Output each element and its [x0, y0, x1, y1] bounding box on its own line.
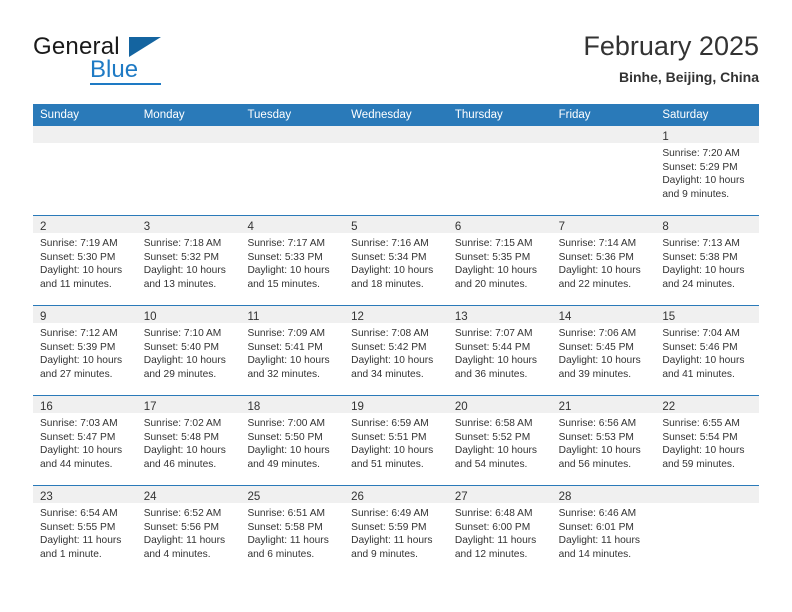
sunset-text: Sunset: 5:44 PM [455, 341, 546, 355]
calendar-day-cell[interactable]: 28Sunrise: 6:46 AMSunset: 6:01 PMDayligh… [552, 486, 656, 575]
daylight-text-line1: Daylight: 10 hours [559, 264, 650, 278]
sunset-text: Sunset: 5:41 PM [247, 341, 338, 355]
daylight-text-line2: and 18 minutes. [351, 278, 442, 292]
daylight-text-line2: and 11 minutes. [40, 278, 131, 292]
calendar-day-cell[interactable]: 22Sunrise: 6:55 AMSunset: 5:54 PMDayligh… [655, 396, 759, 485]
day-sun-info: Sunrise: 7:15 AMSunset: 5:35 PMDaylight:… [448, 233, 552, 291]
day-sun-info: Sunrise: 7:17 AMSunset: 5:33 PMDaylight:… [240, 233, 344, 291]
day-number: 22 [662, 401, 675, 413]
day-number: 2 [40, 221, 46, 233]
page-header: General Blue February 2025 Binhe, Beijin… [33, 30, 759, 98]
daylight-text-line2: and 41 minutes. [662, 368, 753, 382]
daylight-text-line2: and 6 minutes. [247, 548, 338, 562]
sunrise-text: Sunrise: 7:02 AM [144, 417, 235, 431]
daylight-text-line2: and 36 minutes. [455, 368, 546, 382]
logo-triangle-icon [129, 37, 161, 57]
day-number-band: 17 [137, 396, 241, 413]
calendar-day-cell[interactable]: 2Sunrise: 7:19 AMSunset: 5:30 PMDaylight… [33, 216, 137, 305]
day-sun-info: Sunrise: 6:55 AMSunset: 5:54 PMDaylight:… [655, 413, 759, 471]
day-number: 5 [351, 221, 357, 233]
sunrise-text: Sunrise: 7:16 AM [351, 237, 442, 251]
weekday-header-monday: Monday [137, 104, 241, 126]
sunrise-text: Sunrise: 6:59 AM [351, 417, 442, 431]
calendar-week-row: 9Sunrise: 7:12 AMSunset: 5:39 PMDaylight… [33, 305, 759, 395]
sunrise-text: Sunrise: 7:19 AM [40, 237, 131, 251]
sunset-text: Sunset: 5:53 PM [559, 431, 650, 445]
daylight-text-line1: Daylight: 10 hours [662, 444, 753, 458]
daylight-text-line2: and 22 minutes. [559, 278, 650, 292]
day-number: 8 [662, 221, 668, 233]
day-number-band: 19 [344, 396, 448, 413]
day-number-band: 15 [655, 306, 759, 323]
sunset-text: Sunset: 5:59 PM [351, 521, 442, 535]
day-number-band: 28 [552, 486, 656, 503]
day-number-band: 23 [33, 486, 137, 503]
calendar-day-cell-empty [240, 126, 344, 215]
day-sun-info: Sunrise: 7:12 AMSunset: 5:39 PMDaylight:… [33, 323, 137, 381]
sunrise-text: Sunrise: 7:09 AM [247, 327, 338, 341]
daylight-text-line2: and 13 minutes. [144, 278, 235, 292]
sunrise-text: Sunrise: 6:49 AM [351, 507, 442, 521]
calendar-day-cell-empty [137, 126, 241, 215]
day-number-band: 13 [448, 306, 552, 323]
day-sun-info: Sunrise: 7:07 AMSunset: 5:44 PMDaylight:… [448, 323, 552, 381]
weekday-header-sunday: Sunday [33, 104, 137, 126]
calendar-day-cell[interactable]: 15Sunrise: 7:04 AMSunset: 5:46 PMDayligh… [655, 306, 759, 395]
sunrise-text: Sunrise: 7:08 AM [351, 327, 442, 341]
daylight-text-line2: and 4 minutes. [144, 548, 235, 562]
sunrise-text: Sunrise: 6:55 AM [662, 417, 753, 431]
day-sun-info: Sunrise: 6:46 AMSunset: 6:01 PMDaylight:… [552, 503, 656, 561]
day-number-band: 7 [552, 216, 656, 233]
daylight-text-line2: and 14 minutes. [559, 548, 650, 562]
sunset-text: Sunset: 6:00 PM [455, 521, 546, 535]
day-number-band: 27 [448, 486, 552, 503]
day-number-band: 14 [552, 306, 656, 323]
daylight-text-line2: and 46 minutes. [144, 458, 235, 472]
day-number: 27 [455, 491, 468, 503]
calendar-week-row: 23Sunrise: 6:54 AMSunset: 5:55 PMDayligh… [33, 485, 759, 575]
day-sun-info: Sunrise: 6:56 AMSunset: 5:53 PMDaylight:… [552, 413, 656, 471]
sunrise-text: Sunrise: 7:13 AM [662, 237, 753, 251]
sunset-text: Sunset: 5:56 PM [144, 521, 235, 535]
day-sun-info: Sunrise: 7:18 AMSunset: 5:32 PMDaylight:… [137, 233, 241, 291]
sunset-text: Sunset: 5:33 PM [247, 251, 338, 265]
daylight-text-line1: Daylight: 10 hours [40, 444, 131, 458]
weekday-header-wednesday: Wednesday [344, 104, 448, 126]
day-sun-info: Sunrise: 7:14 AMSunset: 5:36 PMDaylight:… [552, 233, 656, 291]
sunset-text: Sunset: 5:58 PM [247, 521, 338, 535]
daylight-text-line2: and 51 minutes. [351, 458, 442, 472]
sunset-text: Sunset: 6:01 PM [559, 521, 650, 535]
daylight-text-line2: and 9 minutes. [662, 188, 753, 202]
day-number: 6 [455, 221, 461, 233]
daylight-text-line2: and 1 minute. [40, 548, 131, 562]
sunset-text: Sunset: 5:29 PM [662, 161, 753, 175]
calendar-day-cell-empty [552, 126, 656, 215]
day-number: 4 [247, 221, 253, 233]
day-number: 15 [662, 311, 675, 323]
sunrise-text: Sunrise: 6:48 AM [455, 507, 546, 521]
day-sun-info: Sunrise: 7:06 AMSunset: 5:45 PMDaylight:… [552, 323, 656, 381]
sunrise-text: Sunrise: 7:18 AM [144, 237, 235, 251]
daylight-text-line1: Daylight: 11 hours [351, 534, 442, 548]
daylight-text-line1: Daylight: 11 hours [455, 534, 546, 548]
calendar-day-cell-empty [448, 126, 552, 215]
calendar-day-cell[interactable]: 7Sunrise: 7:14 AMSunset: 5:36 PMDaylight… [552, 216, 656, 305]
day-sun-info: Sunrise: 7:10 AMSunset: 5:40 PMDaylight:… [137, 323, 241, 381]
calendar-day-cell[interactable]: 20Sunrise: 6:58 AMSunset: 5:52 PMDayligh… [448, 396, 552, 485]
calendar-day-cell[interactable]: 14Sunrise: 7:06 AMSunset: 5:45 PMDayligh… [552, 306, 656, 395]
daylight-text-line1: Daylight: 10 hours [559, 354, 650, 368]
sunset-text: Sunset: 5:35 PM [455, 251, 546, 265]
daylight-text-line1: Daylight: 10 hours [351, 444, 442, 458]
calendar-day-cell-empty [344, 126, 448, 215]
day-number: 3 [144, 221, 150, 233]
day-number: 18 [247, 401, 260, 413]
calendar-week-row: 1Sunrise: 7:20 AMSunset: 5:29 PMDaylight… [33, 126, 759, 215]
calendar-day-cell[interactable]: 5Sunrise: 7:16 AMSunset: 5:34 PMDaylight… [344, 216, 448, 305]
sunset-text: Sunset: 5:36 PM [559, 251, 650, 265]
calendar-day-cell[interactable]: 27Sunrise: 6:48 AMSunset: 6:00 PMDayligh… [448, 486, 552, 575]
sunset-text: Sunset: 5:39 PM [40, 341, 131, 355]
sunset-text: Sunset: 5:48 PM [144, 431, 235, 445]
sunrise-text: Sunrise: 6:46 AM [559, 507, 650, 521]
day-number-band: 11 [240, 306, 344, 323]
daylight-text-line1: Daylight: 10 hours [144, 354, 235, 368]
day-number-band [655, 486, 759, 503]
day-sun-info: Sunrise: 6:58 AMSunset: 5:52 PMDaylight:… [448, 413, 552, 471]
logo-text-blue: Blue [90, 57, 138, 83]
sunset-text: Sunset: 5:32 PM [144, 251, 235, 265]
calendar-day-cell-empty [33, 126, 137, 215]
calendar-day-cell[interactable]: 12Sunrise: 7:08 AMSunset: 5:42 PMDayligh… [344, 306, 448, 395]
day-number: 1 [662, 131, 668, 143]
page-title: February 2025 [583, 30, 759, 63]
day-sun-info: Sunrise: 7:16 AMSunset: 5:34 PMDaylight:… [344, 233, 448, 291]
sunset-text: Sunset: 5:40 PM [144, 341, 235, 355]
sunrise-text: Sunrise: 7:00 AM [247, 417, 338, 431]
sunset-text: Sunset: 5:51 PM [351, 431, 442, 445]
sunrise-text: Sunrise: 6:56 AM [559, 417, 650, 431]
sunrise-text: Sunrise: 6:58 AM [455, 417, 546, 431]
daylight-text-line2: and 32 minutes. [247, 368, 338, 382]
daylight-text-line2: and 20 minutes. [455, 278, 546, 292]
calendar-week-row: 16Sunrise: 7:03 AMSunset: 5:47 PMDayligh… [33, 395, 759, 485]
day-number: 24 [144, 491, 157, 503]
day-number-band: 18 [240, 396, 344, 413]
sunset-text: Sunset: 5:55 PM [40, 521, 131, 535]
daylight-text-line2: and 34 minutes. [351, 368, 442, 382]
daylight-text-line2: and 27 minutes. [40, 368, 131, 382]
day-number-band: 25 [240, 486, 344, 503]
daylight-text-line1: Daylight: 10 hours [351, 354, 442, 368]
weekday-header-friday: Friday [552, 104, 656, 126]
daylight-text-line2: and 54 minutes. [455, 458, 546, 472]
day-number: 19 [351, 401, 364, 413]
day-number: 14 [559, 311, 572, 323]
daylight-text-line2: and 56 minutes. [559, 458, 650, 472]
day-number-band [33, 126, 137, 143]
daylight-text-line1: Daylight: 10 hours [40, 354, 131, 368]
daylight-text-line1: Daylight: 10 hours [144, 444, 235, 458]
day-sun-info: Sunrise: 7:04 AMSunset: 5:46 PMDaylight:… [655, 323, 759, 381]
calendar-day-cell[interactable]: 9Sunrise: 7:12 AMSunset: 5:39 PMDaylight… [33, 306, 137, 395]
calendar-day-cell[interactable]: 23Sunrise: 6:54 AMSunset: 5:55 PMDayligh… [33, 486, 137, 575]
calendar-day-cell[interactable]: 11Sunrise: 7:09 AMSunset: 5:41 PMDayligh… [240, 306, 344, 395]
day-number-band: 12 [344, 306, 448, 323]
daylight-text-line1: Daylight: 10 hours [662, 264, 753, 278]
sunrise-text: Sunrise: 7:07 AM [455, 327, 546, 341]
daylight-text-line1: Daylight: 10 hours [455, 444, 546, 458]
weekday-header-row: SundayMondayTuesdayWednesdayThursdayFrid… [33, 104, 759, 126]
day-number: 11 [247, 311, 259, 323]
daylight-text-line2: and 59 minutes. [662, 458, 753, 472]
day-number: 26 [351, 491, 364, 503]
day-number: 17 [144, 401, 157, 413]
calendar-day-cell-empty [655, 486, 759, 575]
general-blue-logo[interactable]: General Blue [33, 34, 233, 92]
logo-underline [90, 83, 161, 85]
daylight-text-line2: and 12 minutes. [455, 548, 546, 562]
daylight-text-line1: Daylight: 10 hours [247, 354, 338, 368]
sunset-text: Sunset: 5:38 PM [662, 251, 753, 265]
day-number-band: 8 [655, 216, 759, 233]
sunrise-text: Sunrise: 6:54 AM [40, 507, 131, 521]
day-number-band [552, 126, 656, 143]
day-number: 28 [559, 491, 572, 503]
daylight-text-line2: and 29 minutes. [144, 368, 235, 382]
calendar-page: General Blue February 2025 Binhe, Beijin… [0, 0, 792, 612]
day-number: 12 [351, 311, 364, 323]
day-number: 7 [559, 221, 565, 233]
day-number-band: 26 [344, 486, 448, 503]
sunrise-text: Sunrise: 7:04 AM [662, 327, 753, 341]
day-number-band: 22 [655, 396, 759, 413]
day-sun-info: Sunrise: 7:13 AMSunset: 5:38 PMDaylight:… [655, 233, 759, 291]
calendar-day-cell[interactable]: 13Sunrise: 7:07 AMSunset: 5:44 PMDayligh… [448, 306, 552, 395]
day-sun-info: Sunrise: 7:20 AMSunset: 5:29 PMDaylight:… [655, 143, 759, 201]
day-number-band: 9 [33, 306, 137, 323]
day-number: 20 [455, 401, 468, 413]
daylight-text-line1: Daylight: 10 hours [351, 264, 442, 278]
daylight-text-line1: Daylight: 11 hours [559, 534, 650, 548]
daylight-text-line1: Daylight: 10 hours [247, 264, 338, 278]
daylight-text-line1: Daylight: 10 hours [40, 264, 131, 278]
day-number-band: 4 [240, 216, 344, 233]
day-number: 21 [559, 401, 572, 413]
sunrise-text: Sunrise: 7:20 AM [662, 147, 753, 161]
calendar-day-cell[interactable]: 24Sunrise: 6:52 AMSunset: 5:56 PMDayligh… [137, 486, 241, 575]
calendar-day-cell[interactable]: 10Sunrise: 7:10 AMSunset: 5:40 PMDayligh… [137, 306, 241, 395]
daylight-text-line1: Daylight: 10 hours [662, 354, 753, 368]
daylight-text-line1: Daylight: 11 hours [144, 534, 235, 548]
calendar-week-row: 2Sunrise: 7:19 AMSunset: 5:30 PMDaylight… [33, 215, 759, 305]
sunrise-text: Sunrise: 7:06 AM [559, 327, 650, 341]
day-number-band: 5 [344, 216, 448, 233]
day-sun-info: Sunrise: 6:54 AMSunset: 5:55 PMDaylight:… [33, 503, 137, 561]
day-sun-info: Sunrise: 7:08 AMSunset: 5:42 PMDaylight:… [344, 323, 448, 381]
calendar-day-cell[interactable]: 25Sunrise: 6:51 AMSunset: 5:58 PMDayligh… [240, 486, 344, 575]
day-sun-info: Sunrise: 6:48 AMSunset: 6:00 PMDaylight:… [448, 503, 552, 561]
daylight-text-line1: Daylight: 10 hours [455, 354, 546, 368]
daylight-text-line1: Daylight: 11 hours [247, 534, 338, 548]
day-number-band: 16 [33, 396, 137, 413]
day-number: 16 [40, 401, 53, 413]
sunrise-text: Sunrise: 7:03 AM [40, 417, 131, 431]
daylight-text-line1: Daylight: 10 hours [662, 174, 753, 188]
sunset-text: Sunset: 5:52 PM [455, 431, 546, 445]
sunrise-text: Sunrise: 6:52 AM [144, 507, 235, 521]
daylight-text-line2: and 44 minutes. [40, 458, 131, 472]
sunset-text: Sunset: 5:54 PM [662, 431, 753, 445]
daylight-text-line1: Daylight: 10 hours [559, 444, 650, 458]
calendar-day-cell[interactable]: 21Sunrise: 6:56 AMSunset: 5:53 PMDayligh… [552, 396, 656, 485]
sunrise-text: Sunrise: 7:17 AM [247, 237, 338, 251]
sunset-text: Sunset: 5:47 PM [40, 431, 131, 445]
day-number-band: 24 [137, 486, 241, 503]
day-number-band [344, 126, 448, 143]
sunrise-text: Sunrise: 7:15 AM [455, 237, 546, 251]
day-number-band: 3 [137, 216, 241, 233]
day-sun-info: Sunrise: 7:03 AMSunset: 5:47 PMDaylight:… [33, 413, 137, 471]
daylight-text-line1: Daylight: 11 hours [40, 534, 131, 548]
day-sun-info: Sunrise: 6:51 AMSunset: 5:58 PMDaylight:… [240, 503, 344, 561]
daylight-text-line1: Daylight: 10 hours [144, 264, 235, 278]
sunset-text: Sunset: 5:34 PM [351, 251, 442, 265]
day-sun-info: Sunrise: 7:02 AMSunset: 5:48 PMDaylight:… [137, 413, 241, 471]
day-number-band [137, 126, 241, 143]
sunrise-text: Sunrise: 7:12 AM [40, 327, 131, 341]
calendar-day-cell[interactable]: 16Sunrise: 7:03 AMSunset: 5:47 PMDayligh… [33, 396, 137, 485]
sunrise-text: Sunrise: 7:10 AM [144, 327, 235, 341]
daylight-text-line1: Daylight: 10 hours [455, 264, 546, 278]
calendar-weeks: 1Sunrise: 7:20 AMSunset: 5:29 PMDaylight… [33, 126, 759, 575]
day-sun-info: Sunrise: 6:59 AMSunset: 5:51 PMDaylight:… [344, 413, 448, 471]
daylight-text-line1: Daylight: 10 hours [247, 444, 338, 458]
day-number: 23 [40, 491, 53, 503]
day-number: 10 [144, 311, 157, 323]
sunset-text: Sunset: 5:46 PM [662, 341, 753, 355]
day-number-band: 21 [552, 396, 656, 413]
title-block: February 2025 Binhe, Beijing, China [583, 30, 759, 86]
daylight-text-line2: and 24 minutes. [662, 278, 753, 292]
calendar-grid: SundayMondayTuesdayWednesdayThursdayFrid… [33, 104, 759, 575]
day-sun-info: Sunrise: 7:09 AMSunset: 5:41 PMDaylight:… [240, 323, 344, 381]
day-number: 9 [40, 311, 46, 323]
daylight-text-line2: and 39 minutes. [559, 368, 650, 382]
location-subtitle: Binhe, Beijing, China [583, 69, 759, 86]
day-sun-info: Sunrise: 6:52 AMSunset: 5:56 PMDaylight:… [137, 503, 241, 561]
day-number-band: 6 [448, 216, 552, 233]
sunrise-text: Sunrise: 7:14 AM [559, 237, 650, 251]
day-number-band [240, 126, 344, 143]
calendar-day-cell[interactable]: 17Sunrise: 7:02 AMSunset: 5:48 PMDayligh… [137, 396, 241, 485]
day-sun-info: Sunrise: 6:49 AMSunset: 5:59 PMDaylight:… [344, 503, 448, 561]
weekday-header-saturday: Saturday [655, 104, 759, 126]
day-number-band: 10 [137, 306, 241, 323]
sunset-text: Sunset: 5:45 PM [559, 341, 650, 355]
calendar-day-cell[interactable]: 18Sunrise: 7:00 AMSunset: 5:50 PMDayligh… [240, 396, 344, 485]
day-number-band: 20 [448, 396, 552, 413]
weekday-header-tuesday: Tuesday [240, 104, 344, 126]
day-number-band: 1 [655, 126, 759, 143]
calendar-day-cell[interactable]: 6Sunrise: 7:15 AMSunset: 5:35 PMDaylight… [448, 216, 552, 305]
sunset-text: Sunset: 5:30 PM [40, 251, 131, 265]
day-number-band [448, 126, 552, 143]
calendar-day-cell[interactable]: 26Sunrise: 6:49 AMSunset: 5:59 PMDayligh… [344, 486, 448, 575]
calendar-day-cell[interactable]: 3Sunrise: 7:18 AMSunset: 5:32 PMDaylight… [137, 216, 241, 305]
calendar-day-cell[interactable]: 4Sunrise: 7:17 AMSunset: 5:33 PMDaylight… [240, 216, 344, 305]
calendar-day-cell[interactable]: 8Sunrise: 7:13 AMSunset: 5:38 PMDaylight… [655, 216, 759, 305]
calendar-day-cell[interactable]: 19Sunrise: 6:59 AMSunset: 5:51 PMDayligh… [344, 396, 448, 485]
day-sun-info: Sunrise: 7:00 AMSunset: 5:50 PMDaylight:… [240, 413, 344, 471]
day-number: 25 [247, 491, 260, 503]
day-sun-info: Sunrise: 7:19 AMSunset: 5:30 PMDaylight:… [33, 233, 137, 291]
sunset-text: Sunset: 5:50 PM [247, 431, 338, 445]
calendar-day-cell[interactable]: 1Sunrise: 7:20 AMSunset: 5:29 PMDaylight… [655, 126, 759, 215]
day-number: 13 [455, 311, 468, 323]
daylight-text-line2: and 9 minutes. [351, 548, 442, 562]
daylight-text-line2: and 15 minutes. [247, 278, 338, 292]
sunset-text: Sunset: 5:42 PM [351, 341, 442, 355]
sunrise-text: Sunrise: 6:51 AM [247, 507, 338, 521]
weekday-header-thursday: Thursday [448, 104, 552, 126]
daylight-text-line2: and 49 minutes. [247, 458, 338, 472]
day-number-band: 2 [33, 216, 137, 233]
